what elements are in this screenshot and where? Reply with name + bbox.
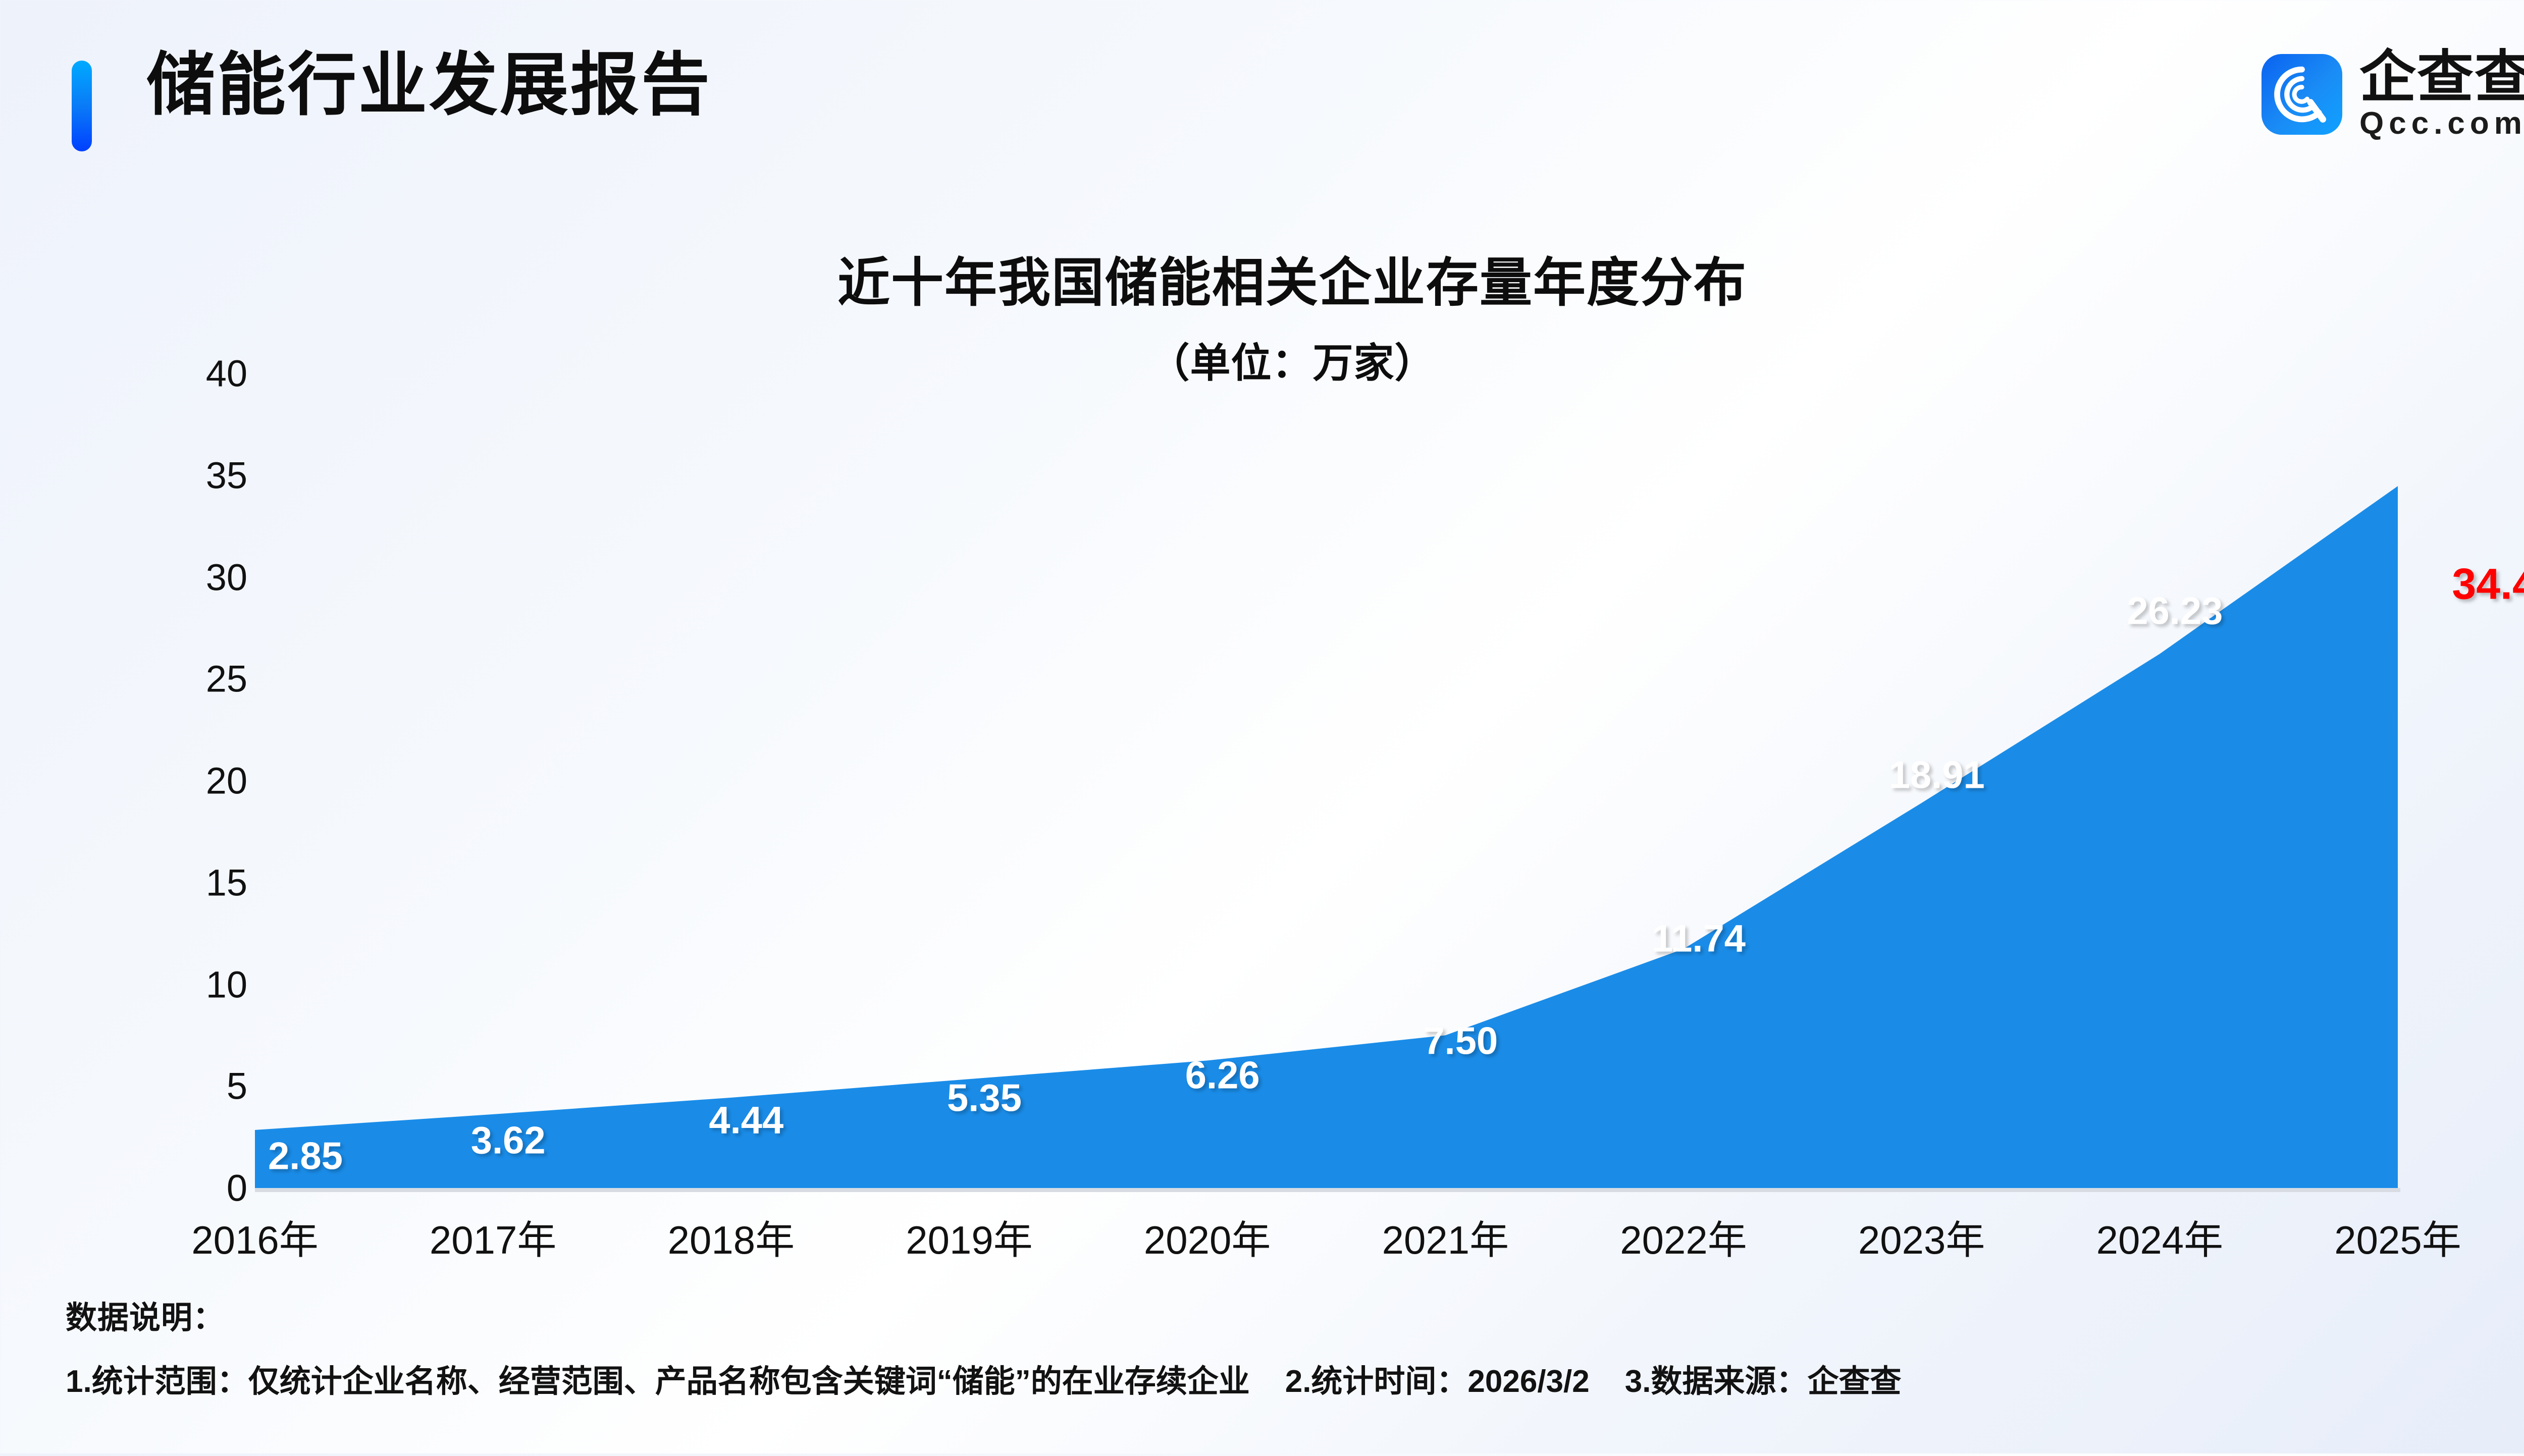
page-header: 储能行业发展报告 企查查 Qcc.com xyxy=(0,0,2524,202)
x-axis-tick-2021年: 2021年 xyxy=(1382,1209,1509,1265)
brand-text: 企查查 Qcc.com xyxy=(2359,48,2524,140)
value-label-2017年: 3.62 xyxy=(471,1118,546,1162)
x-axis-tick-2025年: 2025年 xyxy=(2334,1209,2461,1265)
x-axis-tick-2018年: 2018年 xyxy=(668,1209,795,1265)
y-axis-tick-labels: 4035302520151050 xyxy=(151,373,247,1191)
x-axis-tick-2016年: 2016年 xyxy=(191,1209,319,1265)
brand-name-cn: 企查查 xyxy=(2359,48,2524,106)
title-accent-bar xyxy=(72,61,92,151)
y-axis-tick-35: 35 xyxy=(206,454,247,497)
footer: 数据说明： 1.统计范围：仅统计企业名称、经营范围、产品名称包含关键词“储能”的… xyxy=(66,1292,2524,1401)
brand-name-en: Qcc.com xyxy=(2359,107,2524,140)
value-label-2019年: 5.35 xyxy=(947,1076,1022,1120)
value-label-2022年: 11.74 xyxy=(1652,917,1746,961)
y-axis-tick-15: 15 xyxy=(206,861,247,904)
y-axis-tick-20: 20 xyxy=(206,760,247,802)
x-axis-tick-2024年: 2024年 xyxy=(2096,1209,2224,1265)
value-label-2016年: 2.85 xyxy=(268,1135,343,1178)
x-axis-tick-2022年: 2022年 xyxy=(1620,1209,1747,1265)
page-title: 储能行业发展报告 xyxy=(146,50,712,119)
value-label-2018年: 4.44 xyxy=(709,1098,783,1142)
qcc-logo-icon xyxy=(2262,54,2342,135)
x-axis-tick-2017年: 2017年 xyxy=(430,1209,557,1265)
footer-note-1: 1.统计范围：仅统计企业名称、经营范围、产品名称包含关键词“储能”的在业存续企业 xyxy=(66,1356,1250,1401)
y-axis-tick-25: 25 xyxy=(206,658,247,700)
footer-note-2: 2.统计时间：2026/3/2 xyxy=(1285,1356,1590,1401)
value-label-2023年: 18.91 xyxy=(1889,753,1985,797)
x-axis-tick-2019年: 2019年 xyxy=(906,1209,1033,1265)
y-axis-tick-0: 0 xyxy=(227,1167,247,1210)
y-axis-tick-5: 5 xyxy=(227,1065,247,1108)
footer-notes: 1.统计范围：仅统计企业名称、经营范围、产品名称包含关键词“储能”的在业存续企业… xyxy=(66,1356,2524,1401)
value-label-2020年: 6.26 xyxy=(1185,1054,1260,1098)
y-axis-tick-10: 10 xyxy=(206,963,247,1006)
value-label-2024年: 26.23 xyxy=(2127,589,2223,633)
x-axis-tick-2023年: 2023年 xyxy=(1858,1209,1985,1265)
x-axis-tick-2020年: 2020年 xyxy=(1144,1209,1271,1265)
x-axis-tick-labels: 2016年2017年2018年2019年2020年2021年2022年2023年… xyxy=(255,1209,2398,1264)
chart-title: 近十年我国储能相关企业存量年度分布 xyxy=(0,240,2524,316)
y-axis-tick-30: 30 xyxy=(206,556,247,599)
value-label-2025年: 34.47 xyxy=(2452,560,2524,610)
brand-logo: 企查查 Qcc.com xyxy=(2262,48,2524,140)
y-axis-tick-40: 40 xyxy=(206,352,247,395)
footer-note-3: 3.数据来源：企查查 xyxy=(1625,1356,1902,1401)
area-fill xyxy=(255,486,2398,1188)
footer-heading: 数据说明： xyxy=(66,1292,2524,1337)
chart-subtitle: （单位：万家） xyxy=(0,331,2524,389)
value-label-2021年: 7.50 xyxy=(1423,1019,1498,1063)
x-axis-line xyxy=(255,1188,2400,1192)
